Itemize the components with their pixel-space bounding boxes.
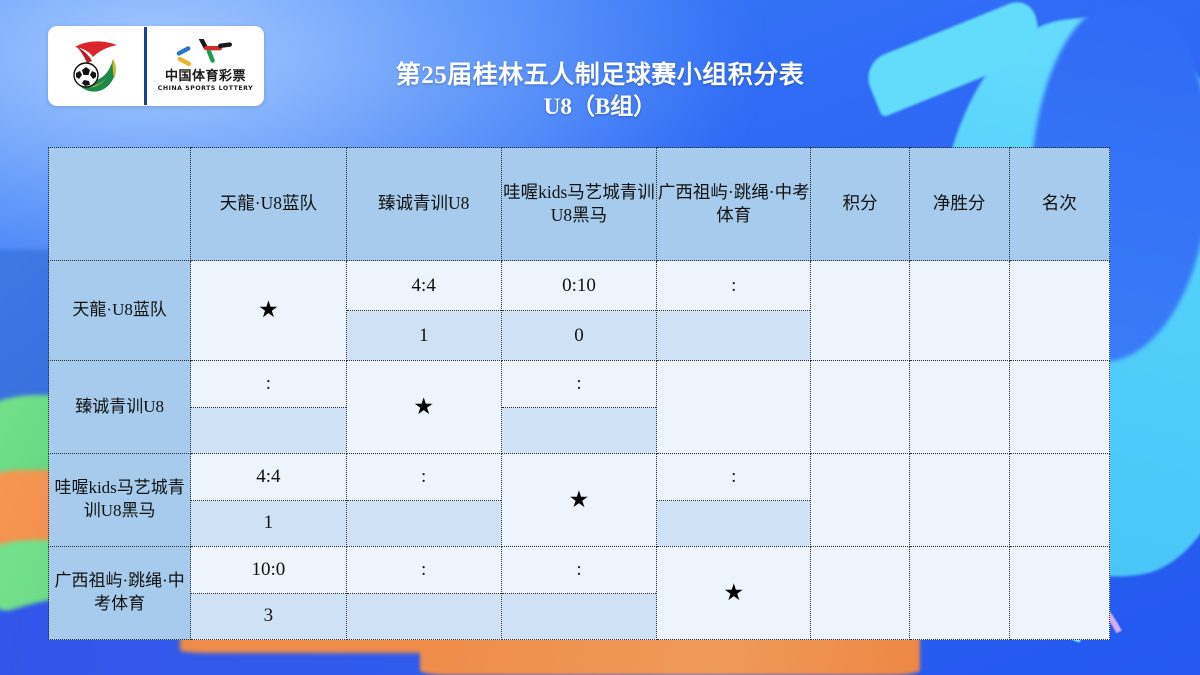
sponsor-logo-card: 中国体育彩票 CHINA SPORTS LOTTERY — [48, 26, 264, 106]
column-header-team-3: 哇喔kids马艺城青训U8黑马 — [501, 148, 656, 261]
table-row: 天龍·U8蓝队 ★ 4:4 1 0:10 0 — [49, 261, 1110, 361]
guilin-football-association-logo — [48, 26, 144, 106]
result-cell[interactable]: : — [501, 547, 656, 640]
table-header-row: 天龍·U8蓝队 臻诚青训U8 哇喔kids马艺城青训U8黑马 广西祖屿·跳绳·中… — [49, 148, 1110, 261]
goal-difference-cell[interactable] — [909, 361, 1009, 454]
star-icon: ★ — [413, 394, 434, 420]
table-row: 臻诚青训U8 : ★ : — [49, 361, 1110, 454]
result-cell[interactable] — [657, 361, 811, 454]
result-points — [657, 501, 810, 547]
goal-difference-cell[interactable] — [909, 454, 1009, 547]
result-score: : — [502, 361, 656, 408]
column-header-points: 积分 — [811, 148, 909, 261]
star-icon: ★ — [258, 297, 279, 323]
result-points — [502, 594, 656, 640]
result-cell-self: ★ — [191, 261, 346, 361]
star-icon: ★ — [723, 580, 744, 606]
points-cell[interactable] — [811, 261, 909, 361]
page-title: 第25届桂林五人制足球赛小组积分表 — [280, 60, 920, 91]
points-cell[interactable] — [811, 454, 909, 547]
result-points: 1 — [347, 311, 501, 360]
result-score: : — [347, 454, 501, 501]
result-score: 0:10 — [502, 261, 656, 311]
china-sports-lottery-logo: 中国体育彩票 CHINA SPORTS LOTTERY — [147, 26, 264, 106]
rank-cell[interactable] — [1009, 261, 1109, 361]
column-header-team-4: 广西祖屿·跳绳·中考体育 — [657, 148, 811, 261]
result-cell[interactable]: 0:10 0 — [501, 261, 656, 361]
result-cell[interactable]: : — [191, 361, 346, 454]
result-score: : — [502, 547, 656, 594]
result-score: : — [347, 547, 501, 594]
result-score: 4:4 — [191, 454, 345, 501]
result-points: 1 — [191, 501, 345, 547]
result-score: 4:4 — [347, 261, 501, 311]
result-cell[interactable]: 10:0 3 — [191, 547, 346, 640]
result-cell[interactable]: 4:4 1 — [191, 454, 346, 547]
result-points — [347, 594, 501, 640]
table-corner-cell — [49, 148, 191, 261]
lottery-name-en: CHINA SPORTS LOTTERY — [158, 86, 253, 92]
result-cell[interactable]: : — [346, 454, 501, 547]
result-score: : — [657, 454, 810, 501]
lottery-name-cn: 中国体育彩票 — [165, 70, 246, 83]
rank-cell[interactable] — [1009, 361, 1109, 454]
row-label-team-2: 臻诚青训U8 — [49, 361, 191, 454]
row-label-team-1: 天龍·U8蓝队 — [49, 261, 191, 361]
goal-difference-cell[interactable] — [909, 261, 1009, 361]
goal-difference-cell[interactable] — [909, 547, 1009, 640]
page-subtitle: U8（B组） — [280, 92, 920, 122]
slide-canvas: 中国体育彩票 CHINA SPORTS LOTTERY 第25届桂林五人制足球赛… — [0, 0, 1200, 675]
points-cell[interactable] — [811, 361, 909, 454]
column-header-rank: 名次 — [1009, 148, 1109, 261]
result-cell[interactable]: : — [346, 547, 501, 640]
table-row: 哇喔kids马艺城青训U8黑马 4:4 1 : — [49, 454, 1110, 547]
rank-cell[interactable] — [1009, 547, 1109, 640]
result-score: : — [657, 261, 810, 311]
result-points: 0 — [502, 311, 656, 360]
result-points — [191, 408, 345, 454]
result-cell[interactable]: : — [657, 261, 811, 361]
result-score: : — [191, 361, 345, 408]
points-cell[interactable] — [811, 547, 909, 640]
result-points — [657, 311, 810, 360]
column-header-team-2: 臻诚青训U8 — [346, 148, 501, 261]
star-icon: ★ — [569, 487, 590, 513]
result-cell-self: ★ — [501, 454, 656, 547]
result-score: 10:0 — [191, 547, 345, 594]
column-header-team-1: 天龍·U8蓝队 — [191, 148, 346, 261]
result-cell[interactable]: : — [657, 454, 811, 547]
row-label-team-4: 广西祖屿·跳绳·中考体育 — [49, 547, 191, 640]
standings-table: 天龍·U8蓝队 臻诚青训U8 哇喔kids马艺城青训U8黑马 广西祖屿·跳绳·中… — [48, 147, 1110, 640]
result-cell-self: ★ — [657, 547, 811, 640]
slide-title-block: 第25届桂林五人制足球赛小组积分表 U8（B组） — [280, 60, 920, 122]
result-cell-self: ★ — [346, 361, 501, 454]
result-points — [502, 408, 656, 454]
column-header-goal-difference: 净胜分 — [909, 148, 1009, 261]
standings-table-wrap: 天龍·U8蓝队 臻诚青训U8 哇喔kids马艺城青训U8黑马 广西祖屿·跳绳·中… — [48, 147, 1110, 638]
result-cell[interactable]: : — [501, 361, 656, 454]
rank-cell[interactable] — [1009, 454, 1109, 547]
result-points — [347, 501, 501, 547]
result-cell[interactable]: 4:4 1 — [346, 261, 501, 361]
result-points: 3 — [191, 594, 345, 640]
table-row: 广西祖屿·跳绳·中考体育 10:0 3 : — [49, 547, 1110, 640]
row-label-team-3: 哇喔kids马艺城青训U8黑马 — [49, 454, 191, 547]
